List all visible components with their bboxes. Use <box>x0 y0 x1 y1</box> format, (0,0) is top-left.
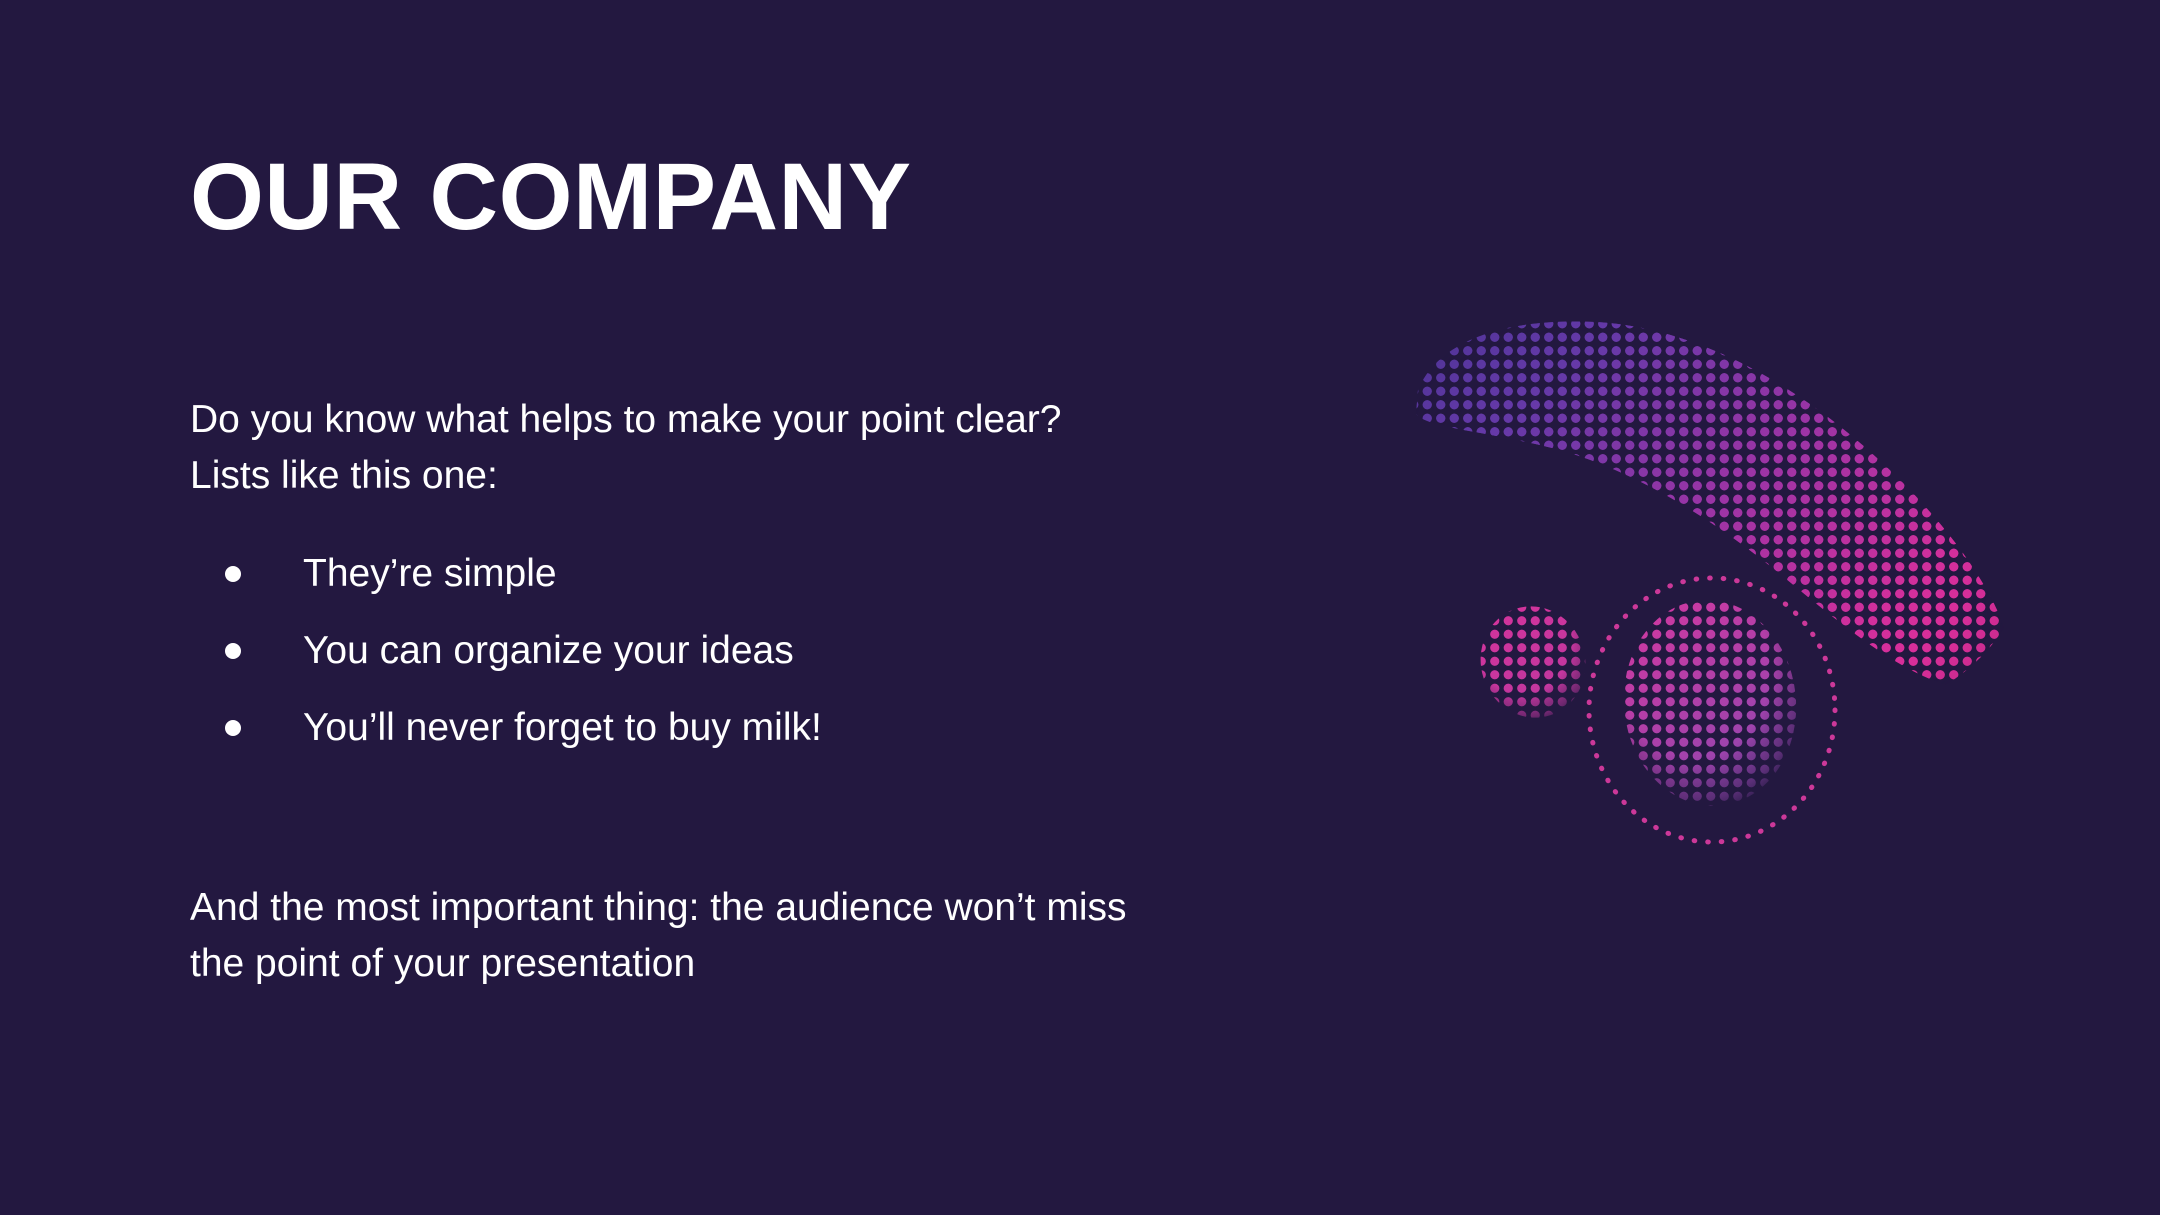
list-item: You can organize your ideas <box>190 612 1140 689</box>
page-title: OUR COMPANY <box>190 150 1190 245</box>
list-item: They’re simple <box>190 535 1140 612</box>
closing-paragraph: And the most important thing: the audien… <box>190 880 1140 992</box>
list-item-label: You can organize your ideas <box>303 627 794 675</box>
halftone-small-blob <box>1380 290 2020 850</box>
intro-paragraph: Do you know what helps to make your poin… <box>190 392 1140 504</box>
bullet-dot-icon <box>225 720 241 736</box>
list-item-label: They’re simple <box>303 550 557 598</box>
bullet-list: They’re simple You can organize your ide… <box>190 535 1140 766</box>
slide-canvas: OUR COMPANY Do you know what helps to ma… <box>0 0 2160 1215</box>
dotted-ring-outline <box>1589 578 1835 842</box>
halftone-swoosh <box>1380 290 2020 850</box>
bullet-dot-icon <box>225 643 241 659</box>
bullet-dot-icon <box>225 566 241 582</box>
halftone-swoosh-shape <box>1380 290 2020 850</box>
list-item-label: You’ll never forget to buy milk! <box>303 704 822 752</box>
halftone-dot-artwork-icon <box>1380 290 2020 850</box>
halftone-large-blob <box>1380 290 2020 850</box>
slide-text-column: OUR COMPANY Do you know what helps to ma… <box>190 150 1190 245</box>
list-item: You’ll never forget to buy milk! <box>190 689 1140 766</box>
